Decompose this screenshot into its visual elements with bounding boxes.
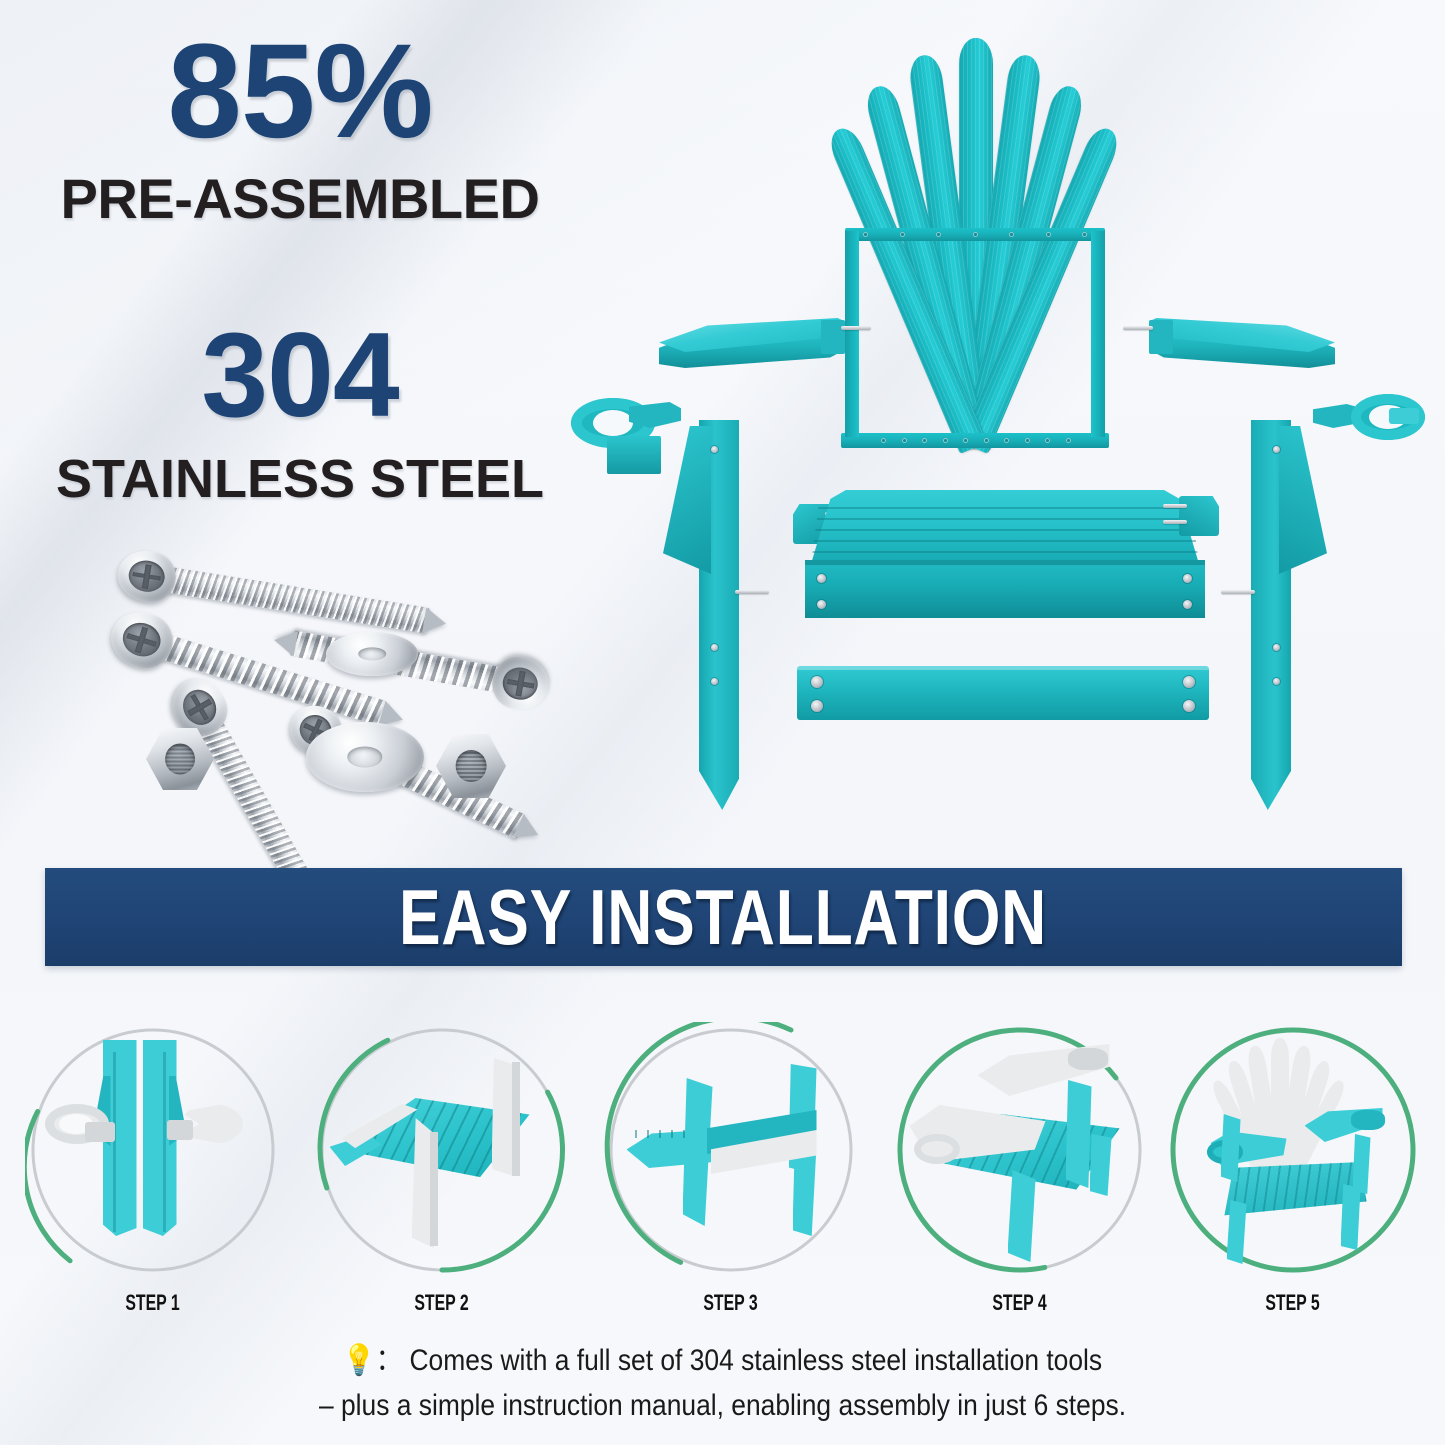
step-item: STEP 2 xyxy=(297,1018,586,1318)
screw-head-icon xyxy=(114,547,179,605)
installation-steps: STEP 1 xyxy=(0,1018,1445,1318)
step-illustration xyxy=(25,1022,281,1278)
left-armrest xyxy=(659,272,844,392)
right-leg-pin xyxy=(1221,590,1255,594)
washer-icon xyxy=(326,632,418,676)
percent-label: PRE-ASSEMBLED xyxy=(0,171,600,227)
stainless-hardware-photo xyxy=(78,536,590,866)
stainless-steel-stat: 304 STAINLESS STEEL xyxy=(0,318,600,506)
step-label: STEP 1 xyxy=(48,1290,256,1316)
right-cup-holder xyxy=(1313,392,1425,448)
step-label: STEP 5 xyxy=(1188,1290,1396,1316)
screw-head-icon xyxy=(488,653,552,714)
steel-label: STAINLESS STEEL xyxy=(0,452,600,506)
banner-text: EASY INSTALLATION xyxy=(399,872,1047,963)
step-item: STEP 5 xyxy=(1148,1018,1437,1318)
caption-line-1: 💡： Comes with a full set of 304 stainles… xyxy=(87,1338,1359,1383)
left-leg-pin xyxy=(735,590,769,594)
easy-installation-banner: EASY INSTALLATION xyxy=(45,868,1402,966)
right-armrest xyxy=(1147,272,1335,392)
step-illustration xyxy=(603,1022,859,1278)
footer-caption: 💡： Comes with a full set of 304 stainles… xyxy=(0,1338,1445,1428)
step-label: STEP 4 xyxy=(915,1290,1123,1316)
back-right-upright xyxy=(1091,231,1105,437)
steel-value: 304 xyxy=(0,318,600,432)
step-item: STEP 4 xyxy=(875,1018,1164,1318)
infographic-page: 85% PRE-ASSEMBLED 304 STAINLESS STEEL xyxy=(0,0,1445,1445)
right-arm-pin xyxy=(1123,326,1153,330)
exploded-chair-diagram xyxy=(555,10,1435,840)
front-stretcher xyxy=(797,660,1209,726)
step-label: STEP 3 xyxy=(626,1290,834,1316)
step-item: STEP 3 xyxy=(586,1018,875,1318)
step-illustration xyxy=(314,1022,570,1278)
step-illustration xyxy=(892,1022,1148,1278)
chair-seat xyxy=(805,490,1205,640)
caption-line-1-text: ： Comes with a full set of 304 stainless… xyxy=(376,1344,1102,1377)
screw-head-icon xyxy=(104,605,179,675)
back-left-upright xyxy=(845,231,859,437)
step-illustration xyxy=(1165,1022,1421,1278)
pre-assembled-stat: 85% PRE-ASSEMBLED xyxy=(0,28,600,227)
percent-value: 85% xyxy=(0,28,600,155)
right-leg xyxy=(1217,420,1327,810)
step-item: STEP 1 xyxy=(8,1018,297,1318)
caption-line-2: – plus a simple instruction manual, enab… xyxy=(87,1383,1359,1428)
lightbulb-icon: 💡 xyxy=(343,1344,376,1377)
back-bottom-bolt-row xyxy=(881,438,1071,443)
washer-icon xyxy=(306,722,424,792)
left-leg xyxy=(663,420,771,810)
right-seat-bracket xyxy=(1163,496,1219,542)
left-arm-pin xyxy=(841,326,871,330)
chair-back-assembly xyxy=(841,28,1109,448)
back-mid-bolt-row xyxy=(863,232,1087,237)
step-label: STEP 2 xyxy=(337,1290,545,1316)
